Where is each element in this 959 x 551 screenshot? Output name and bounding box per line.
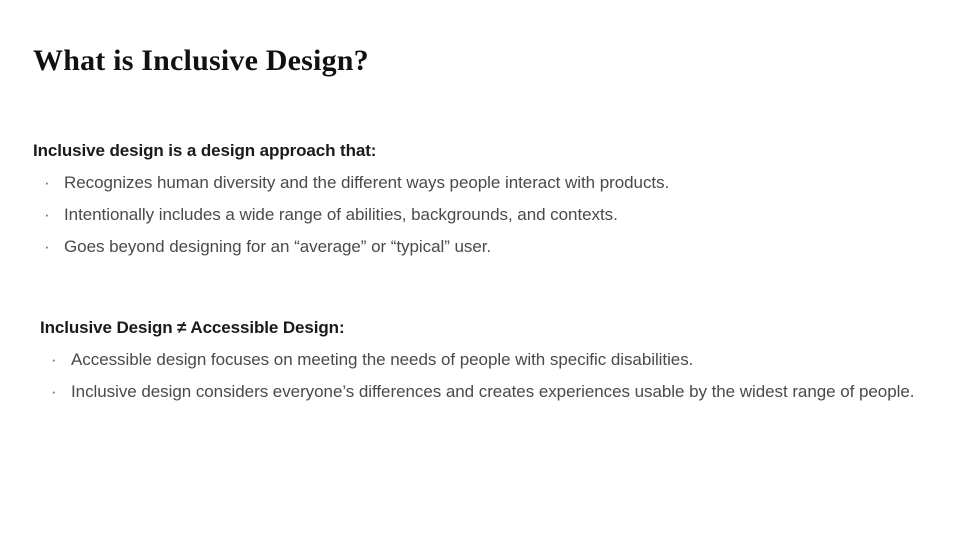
section-heading: Inclusive Design ≠ Accessible Design: bbox=[40, 317, 940, 339]
bullet-list: · Recognizes human diversity and the dif… bbox=[33, 170, 933, 259]
section-inclusive-design-approach: Inclusive design is a design approach th… bbox=[33, 140, 933, 259]
page-title: What is Inclusive Design? bbox=[33, 43, 369, 79]
list-item: · Intentionally includes a wide range of… bbox=[33, 202, 933, 227]
bullet-dot-icon: · bbox=[44, 234, 50, 259]
list-item-text: Recognizes human diversity and the diffe… bbox=[64, 170, 933, 195]
list-item: · Accessible design focuses on meeting t… bbox=[40, 347, 940, 372]
bullet-list: · Accessible design focuses on meeting t… bbox=[40, 347, 940, 404]
list-item: · Inclusive design considers everyone’s … bbox=[40, 379, 940, 404]
bullet-dot-icon: · bbox=[51, 347, 57, 372]
bullet-dot-icon: · bbox=[51, 379, 57, 404]
section-inclusive-vs-accessible: Inclusive Design ≠ Accessible Design: · … bbox=[40, 317, 940, 404]
list-item-text: Inclusive design considers everyone’s di… bbox=[71, 379, 940, 404]
list-item: · Recognizes human diversity and the dif… bbox=[33, 170, 933, 195]
section-heading: Inclusive design is a design approach th… bbox=[33, 140, 933, 162]
bullet-dot-icon: · bbox=[44, 170, 50, 195]
list-item-text: Goes beyond designing for an “average” o… bbox=[64, 234, 933, 259]
list-item-text: Accessible design focuses on meeting the… bbox=[71, 347, 940, 372]
bullet-dot-icon: · bbox=[44, 202, 50, 227]
slide-canvas: What is Inclusive Design? Inclusive desi… bbox=[0, 0, 959, 551]
list-item: · Goes beyond designing for an “average”… bbox=[33, 234, 933, 259]
list-item-text: Intentionally includes a wide range of a… bbox=[64, 202, 933, 227]
